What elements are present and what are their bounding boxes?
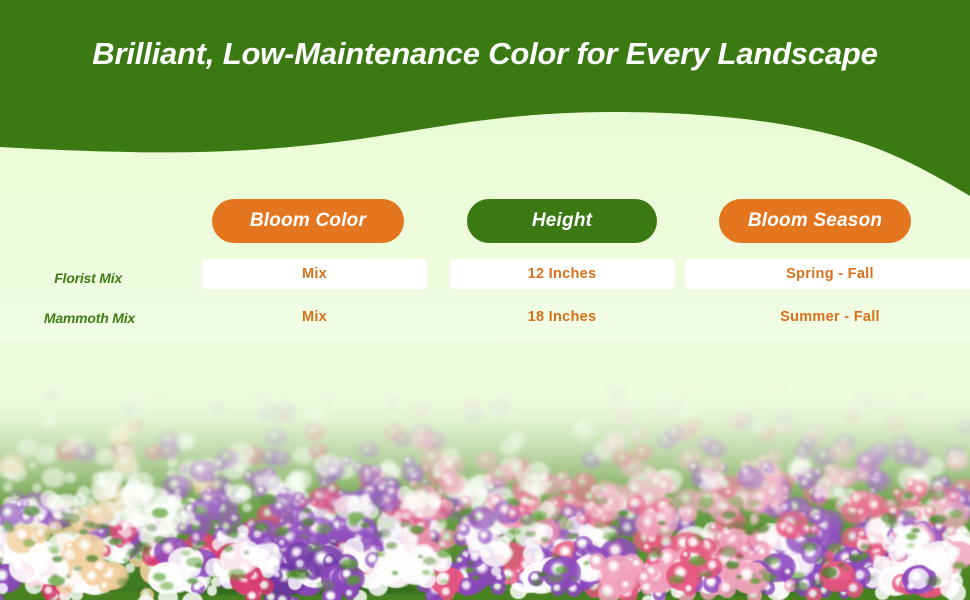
- row-label-mammoth-mix: Mammoth Mix: [0, 310, 135, 326]
- cell-florist-bloom-season: Spring - Fall: [686, 266, 970, 282]
- photo-canvas: [0, 340, 970, 600]
- column-header-label: Bloom Color: [250, 210, 366, 232]
- cell-mammoth-height: 18 Inches: [450, 309, 674, 325]
- column-header-label: Bloom Season: [748, 210, 882, 232]
- flower-field-photo: [0, 340, 970, 600]
- column-header-label: Height: [532, 210, 592, 232]
- comparison-table: Bloom Color Height Bloom Season Florist …: [0, 0, 970, 360]
- column-header-bloom-color[interactable]: Bloom Color: [212, 199, 404, 243]
- cell-mammoth-bloom-color: Mix: [202, 309, 427, 325]
- column-header-bloom-season[interactable]: Bloom Season: [719, 199, 911, 243]
- cell-florist-height: 12 Inches: [450, 266, 674, 282]
- photo-haze-overlay: [0, 340, 970, 600]
- row-label-florist-mix: Florist Mix: [0, 270, 122, 286]
- cell-florist-bloom-color: Mix: [202, 266, 427, 282]
- column-header-height[interactable]: Height: [467, 199, 657, 243]
- infographic-root: Brilliant, Low-Maintenance Color for Eve…: [0, 0, 970, 600]
- cell-mammoth-bloom-season: Summer - Fall: [686, 309, 970, 325]
